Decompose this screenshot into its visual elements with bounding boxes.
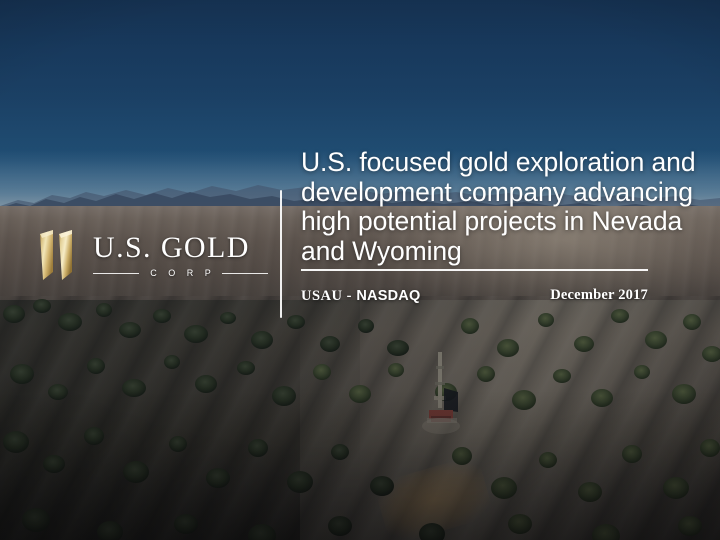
tree-canopy — [0, 296, 720, 540]
logo-subword-row: C O R P — [93, 268, 268, 278]
headline-block: U.S. focused gold exploration and develo… — [301, 148, 701, 266]
logo-wordmark: U.S. GOLD — [93, 231, 250, 265]
company-logo[interactable]: U.S. GOLD C O R P — [33, 226, 265, 288]
logo-rule-left — [93, 273, 139, 274]
title-slide: U.S. GOLD C O R P U.S. focused gold expl… — [0, 0, 720, 540]
logo-subword: C O R P — [146, 268, 216, 278]
meta-row: USAU - NASDAQ December 2017 — [301, 287, 648, 307]
vertical-divider — [280, 190, 282, 318]
page-title: U.S. focused gold exploration and develo… — [301, 148, 701, 266]
exchange-name: NASDAQ — [356, 288, 420, 304]
presentation-date: December 2017 — [550, 287, 648, 304]
drill-rig — [418, 352, 464, 444]
logo-rule-right — [222, 273, 268, 274]
ticker-symbol: USAU - — [301, 288, 352, 304]
ticker-listing: USAU - NASDAQ — [301, 287, 420, 305]
headline-underline-rule — [301, 269, 648, 271]
double-chevron-gold-mark-icon — [33, 226, 85, 284]
